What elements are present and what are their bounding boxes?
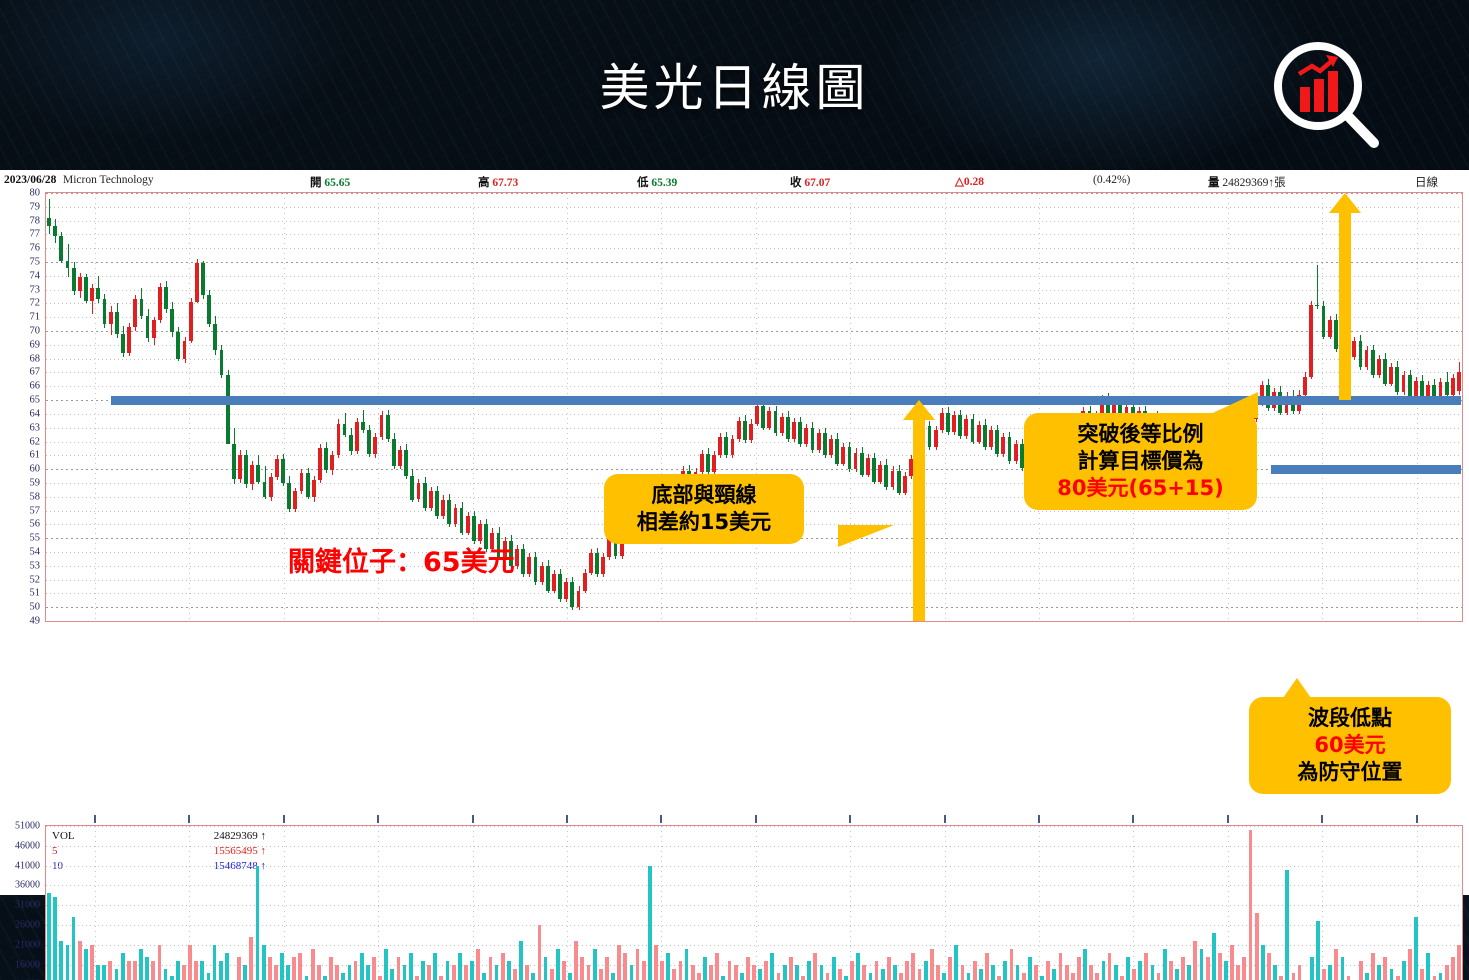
price-y-tick: 68 <box>0 353 40 364</box>
month-gridline <box>95 193 96 621</box>
volume-bar <box>372 957 376 980</box>
volume-bar <box>170 976 174 980</box>
candle-body <box>971 419 975 441</box>
volume-bar <box>1451 957 1455 980</box>
candle-body <box>53 226 57 236</box>
volume-bar <box>1102 961 1106 980</box>
price-y-tick: 63 <box>0 422 40 433</box>
month-gridline <box>1322 826 1323 980</box>
price-y-tick: 67 <box>0 367 40 378</box>
callout-mid-line2: 相差約15美元 <box>616 509 792 536</box>
price-gridline <box>46 345 1462 346</box>
volume-bar <box>709 965 713 980</box>
candle-body <box>1395 367 1399 392</box>
volume-bar <box>348 965 352 980</box>
volume-bar <box>1077 957 1081 980</box>
candle-body <box>324 448 328 470</box>
volume-bar <box>869 973 873 980</box>
candle-body <box>601 557 605 574</box>
candle-body <box>330 455 334 470</box>
candle-body <box>792 422 796 439</box>
volume-bar <box>838 969 842 980</box>
candle-body <box>1334 320 1338 349</box>
volume-bar <box>1175 969 1179 980</box>
volume-bar <box>139 949 143 980</box>
candle-body <box>232 444 236 479</box>
candle-body <box>275 459 279 477</box>
month-gridline <box>1322 193 1323 621</box>
callout-low-line1: 波段低點 <box>1261 705 1439 732</box>
change-percent: (0.42%) <box>1093 174 1130 186</box>
candle-body <box>835 439 839 464</box>
candle-body <box>866 458 870 475</box>
volume-bar <box>666 953 670 980</box>
candle-body <box>940 413 944 431</box>
callout-top-line1: 突破後等比例 <box>1036 421 1245 448</box>
candle-body <box>78 277 82 291</box>
volume-bar <box>1034 965 1038 980</box>
low-label: 低 <box>637 177 649 189</box>
close-value: 67.07 <box>804 177 830 189</box>
callout-low-line2: 60美元 <box>1261 732 1439 759</box>
candle-body <box>1414 381 1418 398</box>
volume-bar <box>1310 957 1314 980</box>
price-y-tick: 70 <box>0 326 40 337</box>
volume-bar <box>1414 917 1418 980</box>
volume-bar <box>1439 973 1443 980</box>
volume-bar <box>611 973 615 980</box>
open-label: 開 <box>310 177 322 189</box>
price-y-tick: 59 <box>0 477 40 488</box>
volume-bar <box>985 953 989 980</box>
volume-bar <box>550 969 554 980</box>
price-gridline <box>46 580 1462 581</box>
vol-ma5-value: 15565495 ↑ <box>170 845 266 857</box>
month-gridline <box>945 193 946 621</box>
candle-body <box>472 516 476 541</box>
volume-bar <box>893 965 897 980</box>
candle-body <box>386 415 390 438</box>
volume-bar <box>176 961 180 980</box>
volume-bar <box>452 965 456 980</box>
volume-bar <box>1433 976 1437 980</box>
callout-low-tail <box>1283 678 1311 698</box>
month-gridline <box>661 826 662 980</box>
candle-body <box>774 411 778 433</box>
volume-bar <box>59 941 63 980</box>
volume-bar <box>415 976 419 980</box>
volume-bar <box>1426 953 1430 980</box>
volume-y-tick: 36000 <box>0 880 40 891</box>
candle-body <box>1359 341 1363 367</box>
volume-bar <box>127 961 131 980</box>
price-y-tick: 53 <box>0 560 40 571</box>
candle-body <box>281 459 285 482</box>
volume-bar <box>476 949 480 980</box>
candle-body <box>583 573 587 591</box>
price-y-tick: 78 <box>0 215 40 226</box>
volume-bar <box>1132 969 1136 980</box>
volume-bar <box>801 976 805 980</box>
volume-bar <box>580 957 584 980</box>
candle-body <box>373 437 377 454</box>
volume-bar <box>268 957 272 980</box>
volume-bar <box>102 965 106 980</box>
price-y-tick: 69 <box>0 339 40 350</box>
volume-bar <box>1322 969 1326 980</box>
candle-body <box>441 500 445 517</box>
volume-bar <box>182 965 186 980</box>
candle-body <box>1328 320 1332 337</box>
candle-body <box>718 437 722 455</box>
price-gridline <box>46 234 1462 235</box>
price-gridline <box>46 386 1462 387</box>
callout-low: 波段低點 60美元 為防守位置 <box>1249 697 1451 794</box>
volume-bar <box>770 953 774 980</box>
change-value: △0.28 <box>955 174 984 188</box>
volume-bar <box>924 961 928 980</box>
price-gridline <box>46 262 1462 263</box>
candle-body <box>349 435 353 452</box>
volume-bar <box>973 961 977 980</box>
volume-bar <box>305 976 309 980</box>
volume-bar <box>862 965 866 980</box>
volume-bar <box>740 973 744 980</box>
candle-body <box>84 277 88 300</box>
price-y-tick: 50 <box>0 602 40 613</box>
volume-bar <box>121 953 125 980</box>
volume-bar <box>1163 949 1167 980</box>
volume-bar <box>1003 961 1007 980</box>
volume-bar <box>954 945 958 980</box>
volume-bar <box>1292 973 1296 980</box>
volume-bar <box>1187 965 1191 980</box>
candle-body <box>454 508 458 525</box>
volume-bar <box>795 965 799 980</box>
volume-bar <box>1267 953 1271 980</box>
candle-body <box>1014 444 1018 461</box>
volume-bar <box>1059 953 1063 980</box>
candle-body <box>570 582 574 607</box>
candle-body <box>841 447 845 464</box>
volume-bar <box>378 976 382 980</box>
volume-bar <box>1200 949 1204 980</box>
candle-body <box>361 422 365 430</box>
volume-bar <box>1383 957 1387 980</box>
volume-bar <box>366 965 370 980</box>
mid-axis-ticks <box>45 815 1463 823</box>
candle-body <box>1445 382 1449 394</box>
candle-body <box>183 341 187 359</box>
candle-body <box>558 574 562 599</box>
candle-body <box>829 439 833 456</box>
volume-bar <box>991 965 995 980</box>
candle-body <box>96 288 100 299</box>
volume-bar <box>1071 973 1075 980</box>
volume-bar <box>427 965 431 980</box>
volume-bar <box>341 973 345 980</box>
volume-bar <box>1285 870 1289 980</box>
volume-bar <box>789 957 793 980</box>
month-gridline <box>284 193 285 621</box>
candle-body <box>1371 350 1375 375</box>
price-y-tick: 80 <box>0 188 40 199</box>
volume-bar <box>489 957 493 980</box>
price-y-tick: 49 <box>0 616 40 627</box>
candle-body <box>367 430 371 453</box>
volume-bar <box>531 973 535 980</box>
candle-body <box>946 413 950 432</box>
volume-bar <box>115 969 119 980</box>
candle-body <box>423 483 427 508</box>
volume-bar <box>911 953 915 980</box>
volume-bar <box>200 961 204 980</box>
volume-bar <box>1249 830 1253 980</box>
candle-body <box>737 421 741 439</box>
month-gridline <box>378 826 379 980</box>
volume-bar <box>249 937 253 980</box>
volume-bar <box>243 965 247 980</box>
volume-bar <box>1181 957 1185 980</box>
volume-bar <box>948 957 952 980</box>
candle-body <box>207 295 211 324</box>
candle-body <box>989 430 993 447</box>
volume-bar <box>207 973 211 980</box>
volume-bar <box>47 893 51 980</box>
volume-bar <box>1218 953 1222 980</box>
price-y-tick: 76 <box>0 243 40 254</box>
candle-body <box>410 476 414 499</box>
candle-body <box>164 287 168 309</box>
month-gridline <box>473 826 474 980</box>
volume-bar <box>96 965 100 980</box>
price-gridline <box>46 290 1462 291</box>
volume-bar <box>262 945 266 980</box>
price-y-tick: 75 <box>0 257 40 268</box>
month-gridline <box>567 826 568 980</box>
volume-bar <box>213 945 217 980</box>
candle-body <box>189 302 193 341</box>
candle-body <box>891 471 895 488</box>
candle-body <box>515 549 519 566</box>
volume-bar <box>826 973 830 980</box>
candle-body <box>176 332 180 358</box>
price-y-tick: 56 <box>0 519 40 530</box>
candle-body <box>958 415 962 436</box>
candle-body <box>767 411 771 428</box>
candle-body <box>589 553 593 572</box>
volume-bar <box>433 953 437 980</box>
candle-body <box>47 218 51 226</box>
volume-bar <box>1016 965 1020 980</box>
volume-bar <box>728 961 732 980</box>
volume-bar <box>936 965 940 980</box>
volume-bar <box>1242 957 1246 980</box>
candle-body <box>127 327 131 353</box>
quote-bar: 2023/06/28 Micron Technology 開 65.65 高 6… <box>0 170 1469 192</box>
candle-body <box>447 500 451 525</box>
candle-body <box>1322 306 1326 336</box>
candle-body <box>133 299 137 327</box>
price-y-tick: 64 <box>0 408 40 419</box>
volume-bar <box>556 949 560 980</box>
candle-body <box>804 428 808 445</box>
candle-body <box>798 422 802 444</box>
volume-bar <box>544 957 548 980</box>
volume-bar <box>237 957 241 980</box>
callout-top-line2: 計算目標價為 <box>1036 448 1245 475</box>
volume-bar <box>1193 941 1197 980</box>
volume-bar <box>568 973 572 980</box>
volume-bar <box>967 973 971 980</box>
volume-bar <box>1377 965 1381 980</box>
price-y-tick: 74 <box>0 270 40 281</box>
volume-bar <box>599 969 603 980</box>
callout-low-line3: 為防守位置 <box>1261 759 1439 786</box>
month-gridline <box>661 193 662 621</box>
month-gridline <box>284 826 285 980</box>
volume-y-tick: 26000 <box>0 920 40 931</box>
volume-bar <box>1022 973 1026 980</box>
price-y-tick: 62 <box>0 436 40 447</box>
volume-y-tick: 41000 <box>0 860 40 871</box>
volume-bar <box>1108 953 1112 980</box>
volume-bar <box>1046 961 1050 980</box>
volume-bar <box>78 941 82 980</box>
price-gridline <box>46 248 1462 249</box>
candle-body <box>903 476 907 493</box>
volume-bar <box>752 965 756 980</box>
volume-bar <box>151 961 155 980</box>
candle-body <box>404 450 408 476</box>
candle-body <box>263 482 267 497</box>
candle-body <box>1383 359 1387 384</box>
volume-y-tick: 46000 <box>0 840 40 851</box>
volume-bar <box>501 953 505 980</box>
candle-body <box>540 566 544 583</box>
key-level-label: 關鍵位子：65美元 <box>288 540 515 579</box>
candle-body <box>460 508 464 533</box>
volume-bar <box>746 957 750 980</box>
callout-middle: 底部與頸線 相差約15美元 <box>604 474 804 544</box>
volume-bar <box>630 965 634 980</box>
volume-bar <box>574 941 578 980</box>
candle-body <box>1408 375 1412 397</box>
price-gridline <box>46 566 1462 567</box>
volume-bar <box>1261 945 1265 980</box>
volume-bar <box>715 953 719 980</box>
volume-y-tick: 16000 <box>0 959 40 970</box>
callout-mid-tail <box>838 525 894 547</box>
candle-body <box>780 417 784 434</box>
volume-bar <box>1224 961 1228 980</box>
measure-arrow-head <box>1329 193 1361 213</box>
callout-mid-line1: 底部與頸線 <box>616 482 792 509</box>
candle-body <box>306 473 310 496</box>
volume-bar <box>997 976 1001 980</box>
quote-date: 2023/06/28 <box>4 174 56 186</box>
volume-bar <box>942 973 946 980</box>
volume-bar <box>1402 961 1406 980</box>
volume-bar <box>1138 961 1142 980</box>
volume-bar <box>1408 949 1412 980</box>
price-y-tick: 72 <box>0 298 40 309</box>
candle-body <box>928 426 932 447</box>
candle-body <box>392 439 396 467</box>
candle-body <box>170 309 174 332</box>
candle-body <box>1309 305 1313 377</box>
volume-bar <box>875 961 879 980</box>
candle-body <box>466 516 470 533</box>
candle-body <box>712 455 716 472</box>
volume-bar <box>1255 913 1259 980</box>
candle-body <box>1377 359 1381 376</box>
volume-bar <box>421 961 425 980</box>
volume-bar <box>409 953 413 980</box>
volume-bar <box>660 961 664 980</box>
month-gridline <box>189 193 190 621</box>
candle-body <box>66 261 70 268</box>
candle-body <box>1457 372 1461 392</box>
volume-bar <box>1420 969 1424 980</box>
candle-body <box>564 582 568 599</box>
volume-bar <box>397 957 401 980</box>
candle-body <box>195 263 199 302</box>
volume-bar <box>605 957 609 980</box>
volume-bar <box>1365 973 1369 980</box>
candle-body <box>226 375 230 444</box>
volume-bar <box>495 965 499 980</box>
close-label: 收 <box>790 177 802 189</box>
price-y-tick: 61 <box>0 450 40 461</box>
price-y-tick: 65 <box>0 395 40 406</box>
volume-bar <box>1334 949 1338 980</box>
price-y-tick: 77 <box>0 229 40 240</box>
volume-bar <box>1157 973 1161 980</box>
candle-body <box>552 574 556 591</box>
candle-body <box>1315 305 1319 306</box>
candle-body <box>201 263 205 295</box>
volume-bar <box>1298 965 1302 980</box>
support-line <box>111 396 1461 405</box>
volume-pane: VOL24829369 ↑ 515565495 ↑ 1015468748 ↑ <box>45 825 1463 980</box>
price-y-tick: 51 <box>0 588 40 599</box>
candle-body <box>706 454 710 472</box>
vol-legend-value: 24829369 ↑ <box>170 830 266 842</box>
volume-bar <box>856 953 860 980</box>
candle-body <box>312 480 316 497</box>
volume-bar <box>482 973 486 980</box>
candle-wick <box>1317 265 1318 309</box>
candle-body <box>823 433 827 455</box>
candle-body <box>115 312 119 334</box>
volume-bar <box>1144 953 1148 980</box>
price-gridline <box>46 207 1462 208</box>
low-value: 65.39 <box>651 177 677 189</box>
period-label: 日線 <box>1415 174 1438 190</box>
candle-body <box>244 455 248 484</box>
volume-bar <box>323 976 327 980</box>
candle-body <box>854 453 858 470</box>
volume-bar <box>1236 965 1240 980</box>
candle-body <box>287 483 291 509</box>
volume-bar <box>280 953 284 980</box>
volume-bar <box>642 961 646 980</box>
volume-bar <box>519 941 523 980</box>
volume-bar <box>84 949 88 980</box>
candle-body <box>977 425 981 442</box>
candle-body <box>546 566 550 591</box>
